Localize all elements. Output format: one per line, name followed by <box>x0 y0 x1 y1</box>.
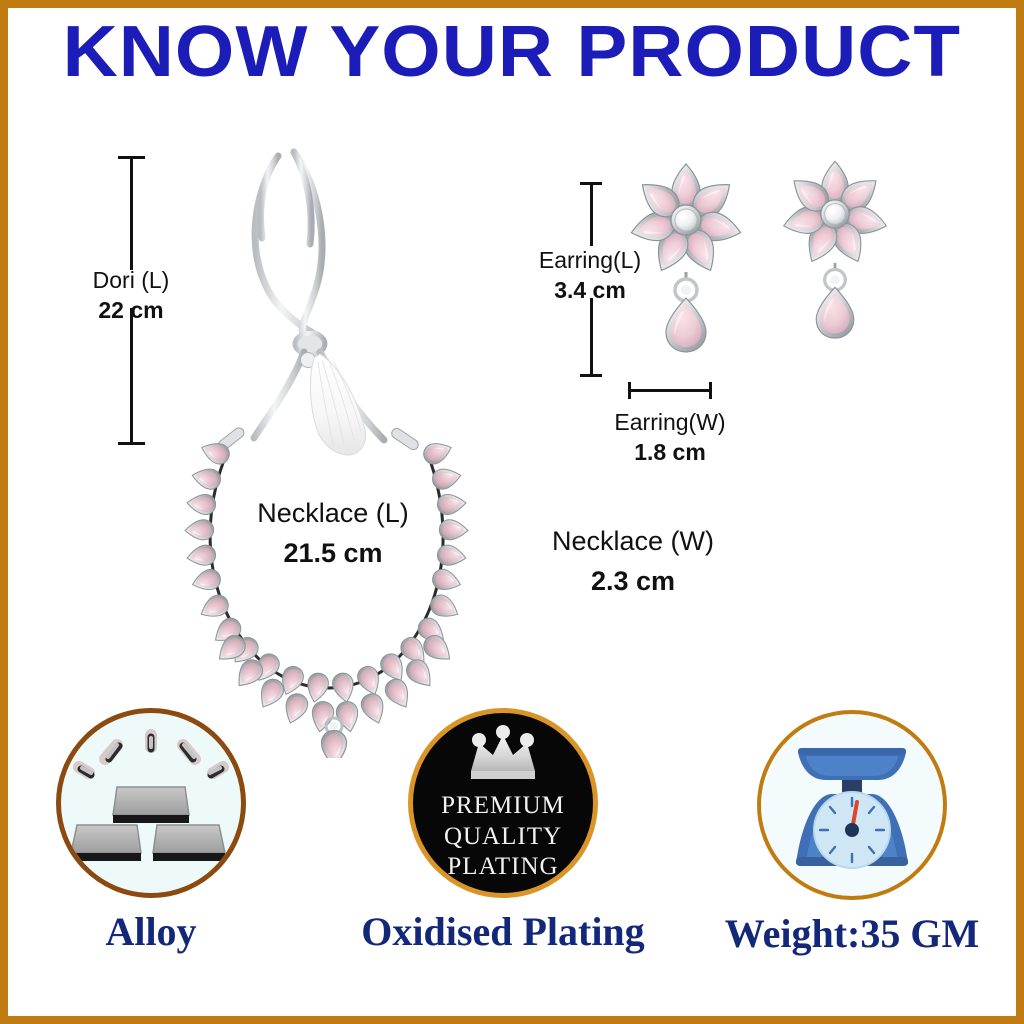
premium-line-2: QUALITY <box>413 822 593 853</box>
badge-alloy: Alloy <box>0 708 311 952</box>
necklace-width-value: 2.3 cm <box>508 561 758 602</box>
earring-length-label: Earring(L) 3.4 cm <box>514 246 666 306</box>
necklace-illustration <box>158 138 498 758</box>
plating-caption: Oxidised Plating <box>343 912 663 952</box>
dori-length-name: Dori (L) <box>51 266 211 295</box>
product-infographic: KNOW YOUR PRODUCT <box>0 0 1024 1024</box>
dori-dimension-line-bottom <box>130 308 133 444</box>
plating-badge-circle: PREMIUM QUALITY PLATING <box>408 708 598 898</box>
earring-width-cap-left <box>628 382 631 399</box>
title-bar: KNOW YOUR PRODUCT <box>8 8 1016 96</box>
earring-width-cap-right <box>709 382 712 399</box>
page-title: KNOW YOUR PRODUCT <box>63 16 962 88</box>
earring-width-name: Earring(W) <box>594 408 746 437</box>
necklace-width-label: Necklace (W) 2.3 cm <box>508 523 758 601</box>
premium-line-3: PLATING <box>413 852 593 883</box>
badge-weight: Weight:35 GM <box>692 710 1012 954</box>
earring-length-value: 3.4 cm <box>514 275 666 306</box>
dori-dimension-cap-top <box>118 156 145 159</box>
earring-length-line-top <box>590 184 593 246</box>
premium-line-1: PREMIUM <box>413 791 593 822</box>
dori-length-label: Dori (L) 22 cm <box>51 266 211 326</box>
weight-caption: Weight:35 GM <box>692 914 1012 954</box>
dori-length-value: 22 cm <box>51 295 211 326</box>
necklace-length-value: 21.5 cm <box>208 533 458 574</box>
premium-quality-plating-text: PREMIUM QUALITY PLATING <box>413 791 593 883</box>
weight-badge-circle <box>757 710 947 900</box>
earring-width-label: Earring(W) 1.8 cm <box>594 408 746 468</box>
earring-right <box>781 161 890 338</box>
alloy-caption: Alloy <box>0 912 311 952</box>
earring-length-cap-top <box>580 182 602 185</box>
dori-dimension-line-top <box>130 158 133 270</box>
earring-width-line <box>628 389 712 392</box>
necklace-length-name: Necklace (L) <box>208 495 458 533</box>
earring-length-cap-bottom <box>580 374 602 377</box>
earring-length-line-bottom <box>590 298 593 376</box>
badge-plating: PREMIUM QUALITY PLATING Oxidised Plating <box>343 708 663 952</box>
necklace-length-label: Necklace (L) 21.5 cm <box>208 495 458 573</box>
weighing-scale-icon <box>762 714 942 894</box>
alloy-badge-circle <box>56 708 246 898</box>
necklace-width-name: Necklace (W) <box>508 523 758 561</box>
earring-width-value: 1.8 cm <box>594 437 746 468</box>
earring-length-name: Earring(L) <box>514 246 666 275</box>
metal-bars-icon <box>61 713 241 893</box>
dori-dimension-cap-bottom <box>118 442 145 445</box>
